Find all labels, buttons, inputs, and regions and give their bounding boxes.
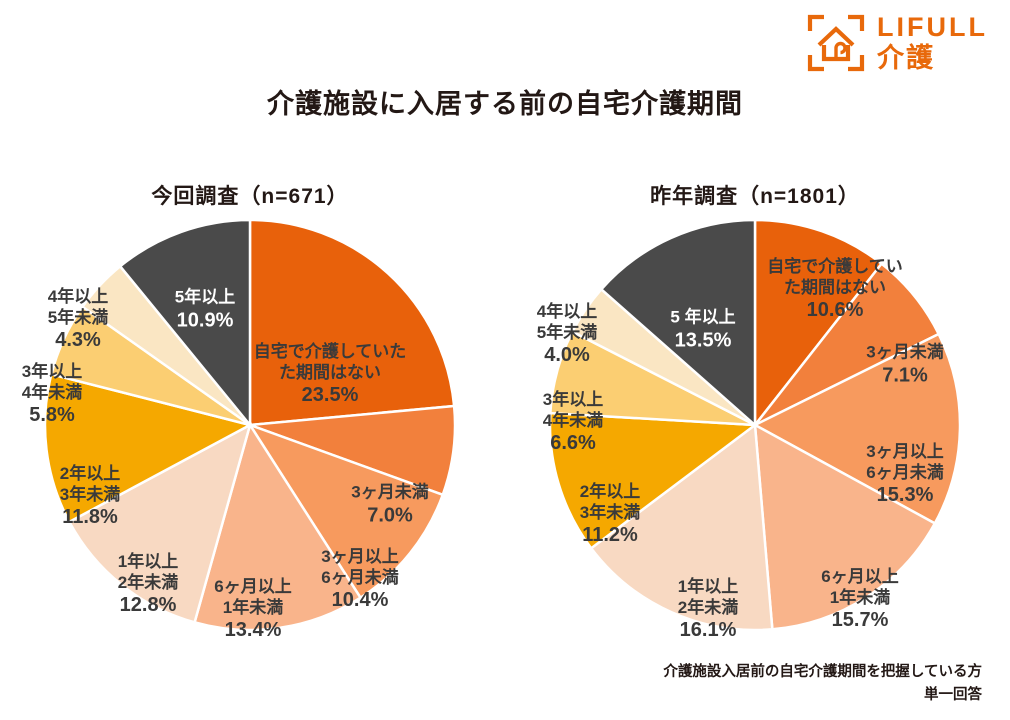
pie-slice-label-text: 6ヶ月未満 bbox=[321, 568, 398, 589]
page-title: 介護施設に入居する前の自宅介護期間 bbox=[0, 82, 1010, 121]
pie-slice-label-text: 3年未満 bbox=[60, 485, 120, 506]
pie-slice-label-text: 2年未満 bbox=[118, 573, 178, 594]
pie-slice-percent: 16.1% bbox=[678, 619, 738, 643]
pie-slice-percent: 12.8% bbox=[118, 594, 178, 618]
footnote: 介護施設入居前の自宅介護期間を把握している方 単一回答 bbox=[663, 661, 982, 706]
logo-brand-name: LIFULL bbox=[877, 14, 988, 41]
pie-slice-label: 2年以上3年未満11.2% bbox=[580, 482, 640, 548]
pie-chart-current-survey: 自宅で介護していたた期間はない23.5%3ヶ月未満7.0%3ヶ月以上6ヶ月未満1… bbox=[0, 210, 500, 640]
pie-slice-label-text: 1年未満 bbox=[821, 588, 898, 609]
pie-slice-label-text: た期間はない bbox=[254, 363, 407, 384]
pie-slice-label: 3年以上4年未満6.6% bbox=[543, 390, 603, 456]
logo-wordmark: LIFULL 介護 bbox=[877, 14, 988, 72]
pie-slice-label-text: 5年未満 bbox=[537, 323, 597, 344]
pie-slice-label-text: 5年以上 bbox=[175, 287, 235, 308]
pie-chart-last-year-survey: 自宅で介護していた期間はない10.6%3ヶ月未満7.1%3ヶ月以上6ヶ月未満15… bbox=[505, 210, 1005, 640]
pie-slice-label: 自宅で介護していた期間はない10.6% bbox=[767, 257, 903, 323]
pie-slice-label-text: 3ヶ月以上 bbox=[866, 442, 943, 463]
pie-slice-label: 6ヶ月以上1年未満15.7% bbox=[821, 567, 898, 633]
pie-slice-label-text: 4年以上 bbox=[537, 302, 597, 323]
pie-slice-percent: 13.4% bbox=[214, 619, 291, 643]
pie-slice-label-text: 6ヶ月以上 bbox=[214, 577, 291, 598]
pie-slice-label: 1年以上2年未満16.1% bbox=[678, 577, 738, 643]
pie-slice-label-text: 3年以上 bbox=[22, 362, 82, 383]
pie-slice-label-text: 2年未満 bbox=[678, 598, 738, 619]
pie-slice-label: 1年以上2年未満12.8% bbox=[118, 552, 178, 618]
pie-slice-percent: 10.9% bbox=[175, 308, 235, 332]
lifull-kaigo-logo: LIFULL 介護 bbox=[807, 14, 988, 72]
pie-slice-percent: 4.0% bbox=[537, 344, 597, 368]
pie-slice-label-text: 4年未満 bbox=[22, 383, 82, 404]
chart-panel-last-year-survey: 昨年調査（n=1801） 自宅で介護していた期間はない10.6%3ヶ月未満7.1… bbox=[505, 180, 1005, 650]
pie-slice-percent: 15.7% bbox=[821, 609, 898, 633]
footnote-line-1: 介護施設入居前の自宅介護期間を把握している方 bbox=[663, 661, 982, 683]
pie-slice-label-text: 5年未満 bbox=[48, 308, 108, 329]
pie-slice-label-text: 4年未満 bbox=[543, 411, 603, 432]
pie-slice-label: 4年以上5年未満4.3% bbox=[48, 287, 108, 353]
pie-slice-label: 3年以上4年未満5.8% bbox=[22, 362, 82, 428]
pie-slice-label-text: た期間はない bbox=[767, 278, 903, 299]
logo-brand-sub: 介護 bbox=[877, 45, 935, 72]
chart-title-last-year-survey: 昨年調査（n=1801） bbox=[505, 180, 1005, 210]
pie-slice-label-text: 3ヶ月未満 bbox=[351, 482, 428, 503]
pie-slice-label-text: 3ヶ月以上 bbox=[321, 547, 398, 568]
pie-slice-label: 6ヶ月以上1年未満13.4% bbox=[214, 577, 291, 643]
pie-slice-percent: 7.0% bbox=[351, 503, 428, 527]
pie-slice-percent: 10.6% bbox=[767, 299, 903, 323]
pie-slice-percent: 6.6% bbox=[543, 432, 603, 456]
pie-slice-label-text: 3年未満 bbox=[580, 503, 640, 524]
pie-slice-label-text: 2年以上 bbox=[60, 464, 120, 485]
pie-slice-percent: 7.1% bbox=[866, 363, 943, 387]
pie-slice-label-text: 1年以上 bbox=[678, 577, 738, 598]
pie-slice-label: 4年以上5年未満4.0% bbox=[537, 302, 597, 368]
bracket-house-icon bbox=[807, 14, 865, 72]
pie-slice-label-text: 3ヶ月未満 bbox=[866, 342, 943, 363]
pie-slice-label: 3ヶ月未満7.1% bbox=[866, 342, 943, 387]
pie-slice-label: 3ヶ月以上6ヶ月未満15.3% bbox=[866, 442, 943, 508]
pie-slice-percent: 5.8% bbox=[22, 404, 82, 428]
pie-slice-label-text: 6ヶ月以上 bbox=[821, 567, 898, 588]
footnote-line-2: 単一回答 bbox=[663, 684, 982, 706]
pie-slice-label-text: 自宅で介護していた bbox=[254, 342, 407, 363]
pie-slice-label-text: 2年以上 bbox=[580, 482, 640, 503]
pie-slice-label-text: 1年未満 bbox=[214, 598, 291, 619]
pie-slice-label-text: 5 年以上 bbox=[670, 307, 735, 328]
pie-slice-label: 自宅で介護していたた期間はない23.5% bbox=[254, 342, 407, 408]
pie-slice-label: 5年以上10.9% bbox=[175, 287, 235, 332]
pie-slice-percent: 10.4% bbox=[321, 589, 398, 613]
pie-slice-percent: 15.3% bbox=[866, 484, 943, 508]
pie-slice-label-text: 4年以上 bbox=[48, 287, 108, 308]
pie-slice-label: 5 年以上13.5% bbox=[670, 307, 735, 352]
chart-panel-current-survey: 今回調査（n=671） 自宅で介護していたた期間はない23.5%3ヶ月未満7.0… bbox=[0, 180, 500, 650]
pie-slice-percent: 11.8% bbox=[60, 506, 120, 530]
pie-slice-label-text: 6ヶ月未満 bbox=[866, 463, 943, 484]
pie-slice-percent: 23.5% bbox=[254, 384, 407, 408]
chart-title-current-survey: 今回調査（n=671） bbox=[0, 180, 500, 210]
pie-slice-label: 2年以上3年未満11.8% bbox=[60, 464, 120, 530]
pie-slice-percent: 11.2% bbox=[580, 524, 640, 548]
pie-slice-label: 3ヶ月未満7.0% bbox=[351, 482, 428, 527]
pie-slice-label-text: 1年以上 bbox=[118, 552, 178, 573]
pie-slice-label-text: 自宅で介護してい bbox=[767, 257, 903, 278]
pie-slice-label: 3ヶ月以上6ヶ月未満10.4% bbox=[321, 547, 398, 613]
pie-slice-percent: 4.3% bbox=[48, 329, 108, 353]
pie-slice-percent: 13.5% bbox=[670, 328, 735, 352]
pie-slice-label-text: 3年以上 bbox=[543, 390, 603, 411]
